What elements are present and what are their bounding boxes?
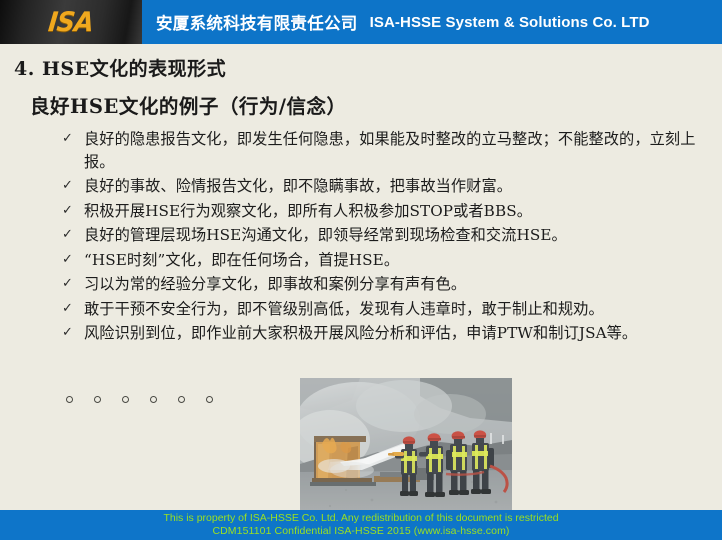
check-icon: ✓ — [62, 128, 84, 151]
list-item-label: 积极开展HSE行为观察文化，即所有人积极参加STOP或者BBS。 — [84, 200, 710, 223]
header-title-bar: 安厦系统科技有限责任公司 ISA-HSSE System & Solutions… — [142, 0, 722, 44]
page-title: 4. HSE文化的表现形式 — [14, 54, 226, 81]
footer-confidential-line: CDM151101 Confidential ISA-HSSE 2015 (ww… — [212, 525, 509, 538]
circle-bullet-icon — [178, 396, 185, 403]
check-icon: ✓ — [62, 249, 84, 272]
firefighting-training-photo — [300, 378, 512, 512]
logo-panel: ISA — [0, 0, 142, 44]
list-item-label: 良好的事故、险情报告文化，即不隐瞒事故，把事故当作财富。 — [84, 175, 710, 198]
check-icon: ✓ — [62, 322, 84, 345]
isa-logo-icon: ISA — [47, 7, 95, 38]
list-item-label: 风险识别到位，即作业前大家积极开展风险分析和评估，申请PTW和制订JSA等。 — [84, 322, 710, 345]
circle-bullet-icon — [206, 396, 213, 403]
slide-canvas: ISA 安厦系统科技有限责任公司 ISA-HSSE System & Solut… — [0, 0, 722, 540]
circle-bullet-row — [66, 396, 213, 403]
list-item: ✓ 良好的管理层现场HSE沟通文化，即领导经常到现场检查和交流HSE。 — [62, 224, 710, 247]
circle-bullet-icon — [66, 396, 73, 403]
check-icon: ✓ — [62, 175, 84, 198]
list-item: ✓ 良好的事故、险情报告文化，即不隐瞒事故，把事故当作财富。 — [62, 175, 710, 198]
check-icon: ✓ — [62, 224, 84, 247]
list-item-label: 良好的管理层现场HSE沟通文化，即领导经常到现场检查和交流HSE。 — [84, 224, 710, 247]
list-item-label: 敢于干预不安全行为，即不管级别高低，发现有人违章时，敢于制止和规劝。 — [84, 298, 710, 321]
page-subtitle: 良好HSE文化的例子（行为/信念） — [30, 90, 347, 119]
check-icon: ✓ — [62, 200, 84, 223]
circle-bullet-icon — [94, 396, 101, 403]
circle-bullet-icon — [122, 396, 129, 403]
footer-copyright-line: This is property of ISA-HSSE Co. Ltd. An… — [163, 512, 558, 525]
list-item: ✓ 敢于干预不安全行为，即不管级别高低，发现有人违章时，敢于制止和规劝。 — [62, 298, 710, 321]
list-item-label: 良好的隐患报告文化，即发生任何隐患，如果能及时整改的立马整改；不能整改的，立刻上… — [84, 128, 710, 173]
check-icon: ✓ — [62, 298, 84, 321]
list-item-label: “HSE时刻”文化，即在任何场合，首提HSE。 — [84, 249, 710, 272]
list-item: ✓ 积极开展HSE行为观察文化，即所有人积极参加STOP或者BBS。 — [62, 200, 710, 223]
check-icon: ✓ — [62, 273, 84, 296]
list-item: ✓ 习以为常的经验分享文化，即事故和案例分享有声有色。 — [62, 273, 710, 296]
list-item-label: 习以为常的经验分享文化，即事故和案例分享有声有色。 — [84, 273, 710, 296]
company-name-en: ISA-HSSE System & Solutions Co. LTD — [370, 14, 650, 31]
list-item: ✓ 良好的隐患报告文化，即发生任何隐患，如果能及时整改的立马整改；不能整改的，立… — [62, 128, 710, 173]
bullet-list: ✓ 良好的隐患报告文化，即发生任何隐患，如果能及时整改的立马整改；不能整改的，立… — [62, 128, 710, 347]
list-item: ✓ 风险识别到位，即作业前大家积极开展风险分析和评估，申请PTW和制订JSA等。 — [62, 322, 710, 345]
list-item: ✓ “HSE时刻”文化，即在任何场合，首提HSE。 — [62, 249, 710, 272]
circle-bullet-icon — [150, 396, 157, 403]
slide-footer: This is property of ISA-HSSE Co. Ltd. An… — [0, 510, 722, 540]
slide-header: ISA 安厦系统科技有限责任公司 ISA-HSSE System & Solut… — [0, 0, 722, 44]
company-name-cn: 安厦系统科技有限责任公司 — [156, 10, 358, 34]
